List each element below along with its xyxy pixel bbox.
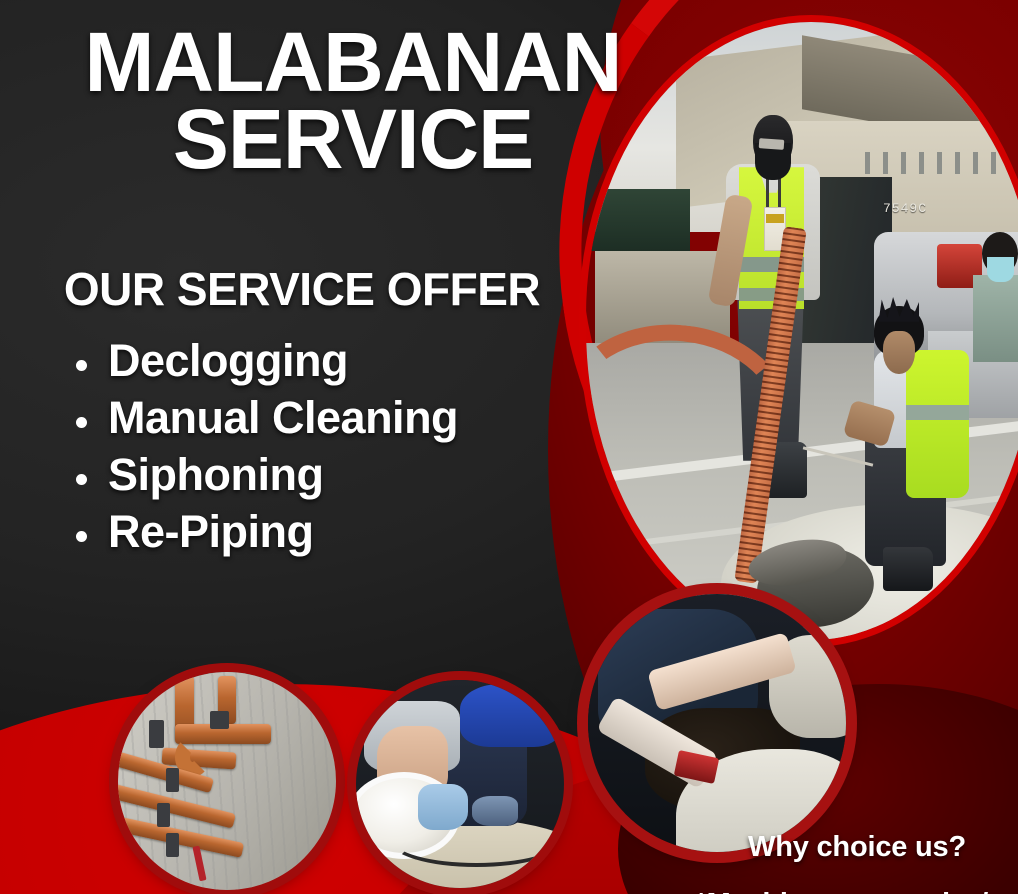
- photo-bystander-body: [973, 275, 1018, 362]
- photo-worker2-safety-vest: [906, 350, 969, 498]
- why-choose-us-point-1: *Machine operated w/: [695, 888, 988, 894]
- list-item: Declogging: [62, 332, 582, 389]
- page-title: MALABANAN SERVICE: [28, 24, 678, 179]
- services-list: Declogging Manual Cleaning Siphoning Re-…: [62, 332, 582, 561]
- photo-snake-cable: [389, 813, 564, 867]
- photo-bystander-facemask: [987, 257, 1014, 282]
- list-item: Manual Cleaning: [62, 389, 582, 446]
- photo-worker-blue-sleeve: [460, 684, 560, 746]
- circle-photo-manual-cleaning: [356, 680, 564, 888]
- photo-green-tarp: [591, 189, 690, 251]
- photo-worker2-boot: [883, 547, 933, 590]
- circle-photo-repiping: [118, 672, 336, 890]
- why-choose-us-heading: Why choice us?: [748, 831, 966, 864]
- offer-heading: OUR SERVICE OFFER: [22, 262, 582, 316]
- list-item: Re-Piping: [62, 503, 582, 560]
- title-line-2: SERVICE: [28, 101, 678, 178]
- circle-photo-siphoning: [588, 594, 846, 852]
- container-code-label: 7549C: [883, 201, 927, 216]
- photo-worker2-face: [883, 331, 915, 374]
- list-item: Siphoning: [62, 446, 582, 503]
- poster-canvas: 7549C CI: [0, 0, 1018, 894]
